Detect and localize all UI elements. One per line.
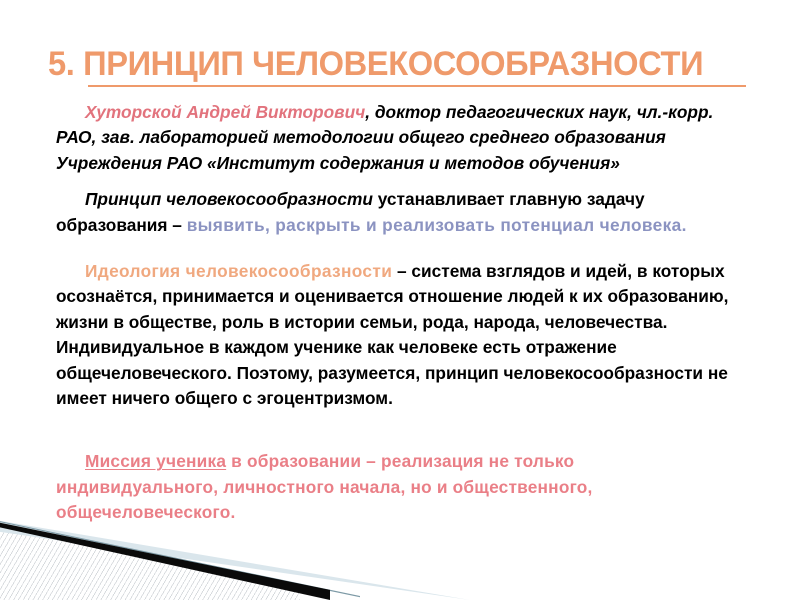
ideology-body-text: – система взглядов и идей, в которых осо…: [56, 261, 728, 408]
slide-canvas: 5. ПРИНЦИП ЧЕЛОВЕКОСООБРАЗНОСТИ Хуторско…: [0, 0, 800, 600]
slide-title-block: 5. ПРИНЦИП ЧЕЛОВЕКОСООБРАЗНОСТИ: [48, 44, 758, 90]
principle-term: Принцип человекосообразности: [85, 189, 373, 209]
author-name: Хуторской Андрей Викторович: [85, 102, 365, 122]
ideology-term: Идеология человекосообразности: [85, 261, 392, 281]
principle-highlight: выявить, раскрыть и реализовать потенциа…: [187, 215, 687, 235]
paragraph-ideology: Идеология человекосообразности – система…: [56, 259, 738, 411]
paragraph-principle: Принцип человекосообразности устанавлива…: [56, 187, 738, 238]
paragraph-mission: Миссия ученика в образовании – реализаци…: [56, 449, 738, 525]
slide-body: Хуторской Андрей Викторович, доктор педа…: [56, 100, 738, 526]
page-title: 5. ПРИНЦИП ЧЕЛОВЕКОСООБРАЗНОСТИ: [48, 44, 730, 84]
mission-term: Миссия ученика: [85, 451, 226, 471]
title-underline: [88, 85, 746, 87]
paragraph-author: Хуторской Андрей Викторович, доктор педа…: [56, 100, 738, 176]
